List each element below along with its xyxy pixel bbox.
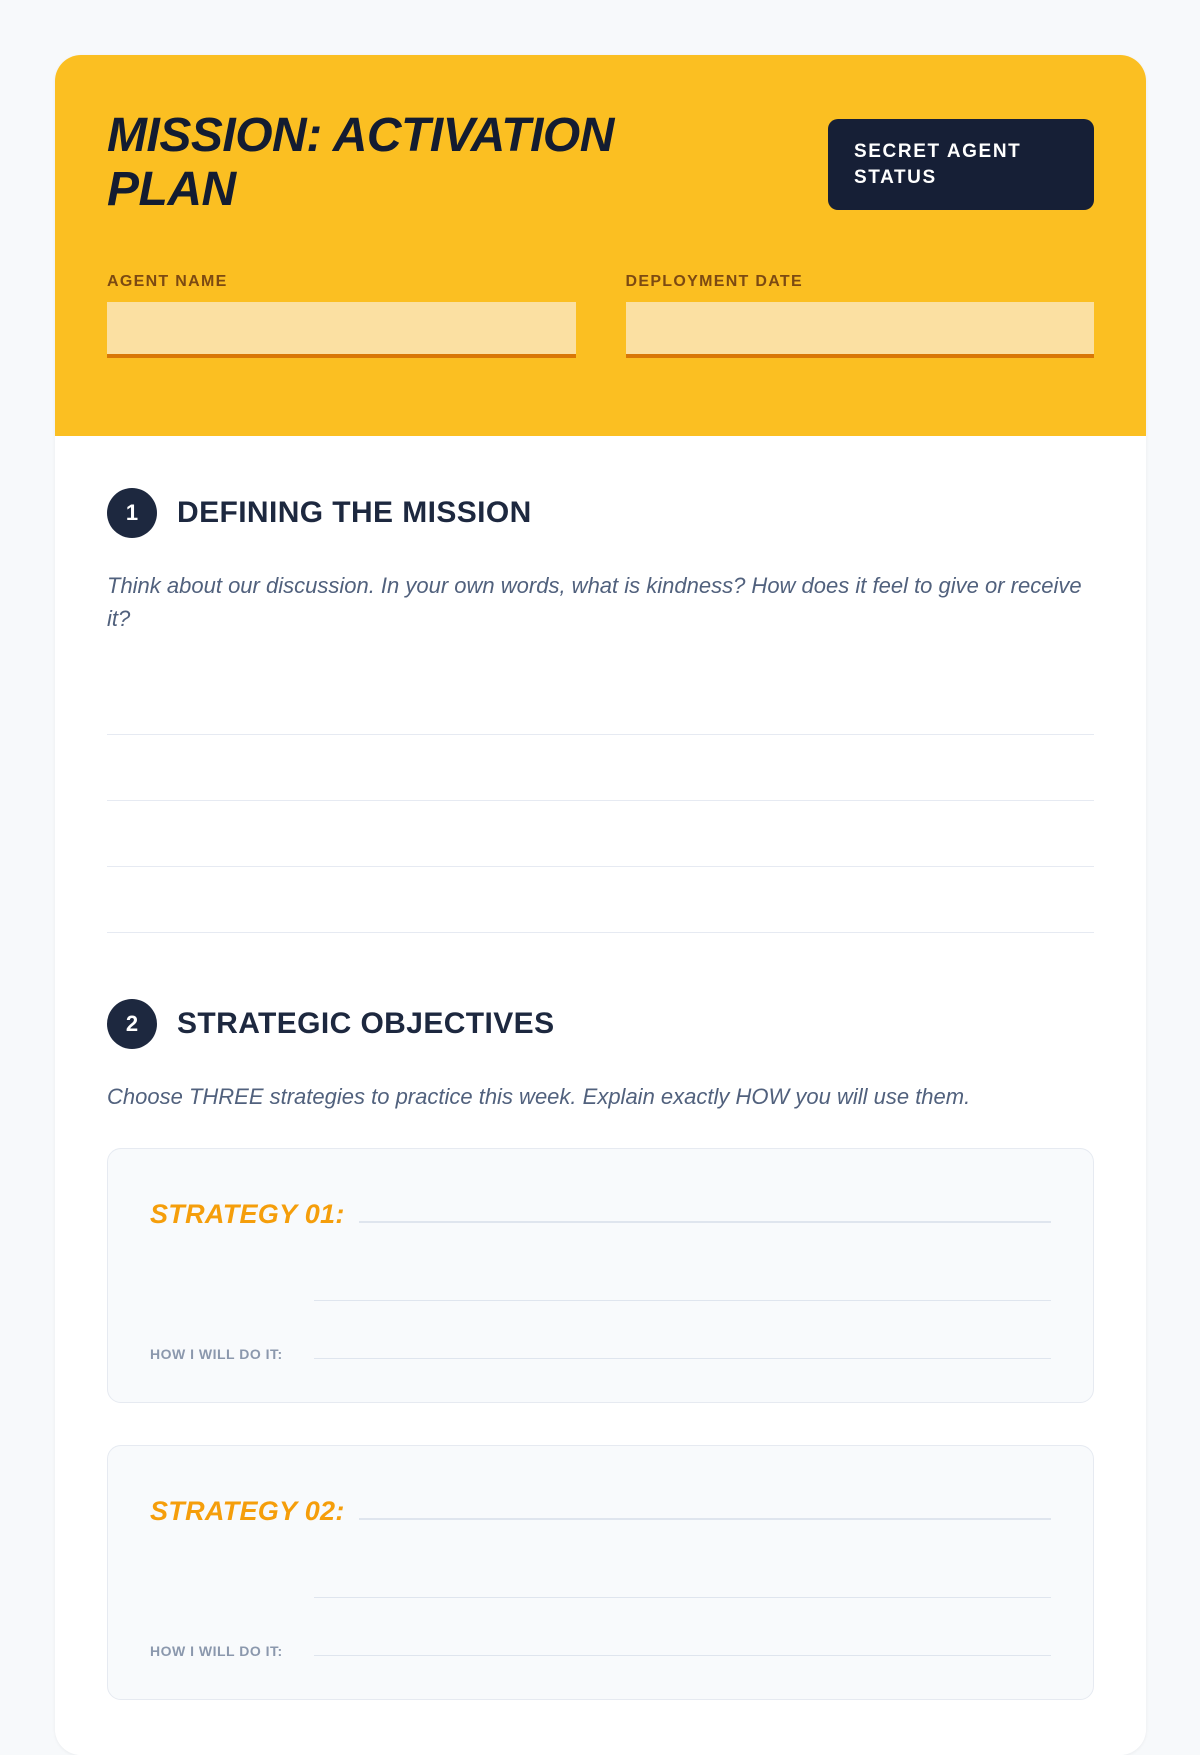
writing-line[interactable] bbox=[314, 1301, 1051, 1359]
header-fields-row: AGENT NAME DEPLOYMENT DATE bbox=[107, 273, 1094, 358]
section-2-header: 2 STRATEGIC OBJECTIVES bbox=[107, 999, 1094, 1049]
section-defining-the-mission: 1 DEFINING THE MISSION Think about our d… bbox=[107, 488, 1094, 933]
section-1-header: 1 DEFINING THE MISSION bbox=[107, 488, 1094, 538]
how-i-will-do-it-label: HOW I WILL DO IT: bbox=[150, 1346, 300, 1362]
deployment-date-input[interactable] bbox=[626, 302, 1095, 358]
writing-line[interactable] bbox=[107, 867, 1094, 933]
deployment-date-field-group: DEPLOYMENT DATE bbox=[626, 273, 1095, 358]
section-1-answer-area[interactable] bbox=[107, 669, 1094, 933]
section-1-prompt: Think about our discussion. In your own … bbox=[107, 570, 1087, 635]
section-divider-spacer bbox=[107, 943, 1094, 999]
section-2-prompt: Choose THREE strategies to practice this… bbox=[107, 1081, 1087, 1114]
writing-line[interactable] bbox=[107, 669, 1094, 735]
writing-line[interactable] bbox=[314, 1272, 1051, 1301]
strategy-label: STRATEGY 02: bbox=[150, 1496, 345, 1527]
status-badge: SECRET AGENT STATUS bbox=[828, 119, 1094, 210]
strategy-name-input-line[interactable] bbox=[359, 1191, 1051, 1223]
agent-name-label: AGENT NAME bbox=[107, 273, 576, 291]
section-1-title: DEFINING THE MISSION bbox=[177, 496, 532, 530]
how-i-will-do-it-label: HOW I WILL DO IT: bbox=[150, 1643, 300, 1659]
strategy-title-row: STRATEGY 02: bbox=[150, 1488, 1051, 1527]
writing-line[interactable] bbox=[314, 1569, 1051, 1598]
page-title: MISSION: ACTIVATION PLAN bbox=[107, 109, 747, 217]
writing-line[interactable] bbox=[107, 735, 1094, 801]
strategy-how-row: HOW I WILL DO IT: bbox=[150, 1569, 1051, 1659]
section-strategic-objectives: 2 STRATEGIC OBJECTIVES Choose THREE stra… bbox=[107, 999, 1094, 1700]
strategy-title-row: STRATEGY 01: bbox=[150, 1191, 1051, 1230]
worksheet-body: 1 DEFINING THE MISSION Think about our d… bbox=[55, 436, 1146, 1755]
strategy-how-input-area[interactable] bbox=[314, 1272, 1051, 1359]
step-number-badge: 2 bbox=[107, 999, 157, 1049]
writing-line[interactable] bbox=[107, 801, 1094, 867]
strategy-name-input-line[interactable] bbox=[359, 1488, 1051, 1520]
strategy-how-input-area[interactable] bbox=[314, 1569, 1051, 1656]
worksheet-sheet: MISSION: ACTIVATION PLAN SECRET AGENT ST… bbox=[55, 55, 1146, 1755]
strategy-card: STRATEGY 02: HOW I WILL DO IT: bbox=[107, 1445, 1094, 1700]
agent-name-field-group: AGENT NAME bbox=[107, 273, 576, 358]
writing-line[interactable] bbox=[314, 1598, 1051, 1656]
agent-name-input[interactable] bbox=[107, 302, 576, 358]
worksheet-header: MISSION: ACTIVATION PLAN SECRET AGENT ST… bbox=[55, 55, 1146, 436]
section-2-title: STRATEGIC OBJECTIVES bbox=[177, 1007, 555, 1041]
step-number-badge: 1 bbox=[107, 488, 157, 538]
strategy-card: STRATEGY 01: HOW I WILL DO IT: bbox=[107, 1148, 1094, 1403]
strategy-label: STRATEGY 01: bbox=[150, 1199, 345, 1230]
strategy-how-row: HOW I WILL DO IT: bbox=[150, 1272, 1051, 1362]
deployment-date-label: DEPLOYMENT DATE bbox=[626, 273, 1095, 291]
header-top-row: MISSION: ACTIVATION PLAN SECRET AGENT ST… bbox=[107, 103, 1094, 217]
